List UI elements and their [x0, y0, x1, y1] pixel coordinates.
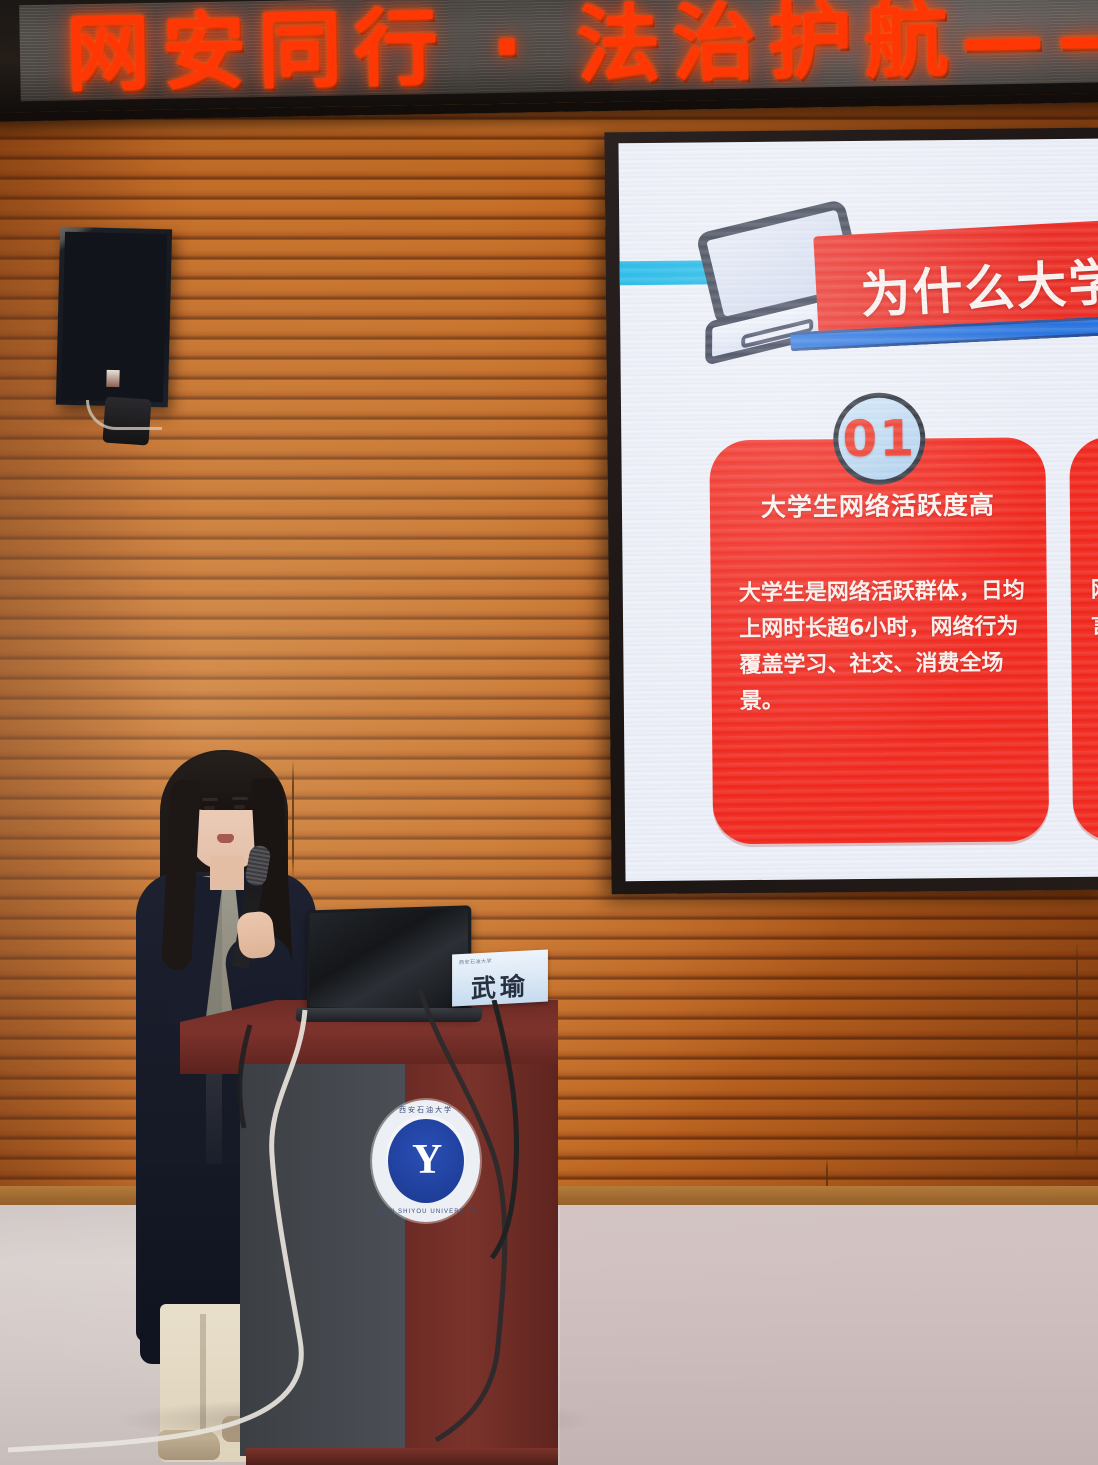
led-banner-text: 网安同行 · 法治护航——大学: [65, 0, 1098, 101]
slide-card-body: 网言: [1091, 572, 1098, 644]
slide-step-number: 01: [842, 409, 916, 468]
slide-title-text: 为什么大学: [858, 242, 1098, 328]
presentation-slide: 为什么大学 大学生网络活跃度高 大学生是网络活跃群体，日均上网时长超6小时，网络…: [618, 139, 1098, 882]
presenter-hand: [236, 910, 277, 960]
mouth: [217, 834, 234, 843]
wall-seam: [1076, 940, 1078, 1060]
neck: [210, 856, 244, 890]
lecture-hall-photo: 网安同行 · 法治护航——大学 为什么大学 大学生网络活跃度高: [0, 0, 1098, 1465]
slide-card-body: 大学生是网络活跃群体，日均上网时长超6小时，网络行为覆盖学习、社交、消费全场景。: [739, 573, 1026, 720]
slide-step-badge-01: 01: [833, 392, 926, 485]
led-banner-frame: 网安同行 · 法治护航——大学: [0, 0, 1098, 122]
projection-screen-frame: 为什么大学 大学生网络活跃度高 大学生是网络活跃群体，日均上网时长超6小时，网络…: [604, 128, 1098, 895]
eye-left: [204, 806, 215, 810]
eye-right: [234, 805, 245, 809]
eyebrow-left: [202, 798, 218, 801]
speaker-brand-badge: [106, 370, 119, 387]
slide-card: 网言: [1069, 434, 1098, 841]
slide-card: 大学生网络活跃度高 大学生是网络活跃群体，日均上网时长超6小时，网络行为覆盖学习…: [709, 437, 1049, 844]
stage-floor-right: [560, 1205, 1098, 1465]
slide-card-heading: 大学生网络活跃度高: [710, 485, 1046, 524]
placard-org-text: 西安石油大学: [459, 957, 492, 966]
wall-loudspeaker: [56, 227, 172, 408]
wall-seam: [1076, 1048, 1078, 1158]
podium-rear-cable: [470, 1000, 590, 1260]
eyebrow-right: [232, 797, 248, 800]
led-banner-screen: 网安同行 · 法治护航——大学: [19, 0, 1098, 101]
